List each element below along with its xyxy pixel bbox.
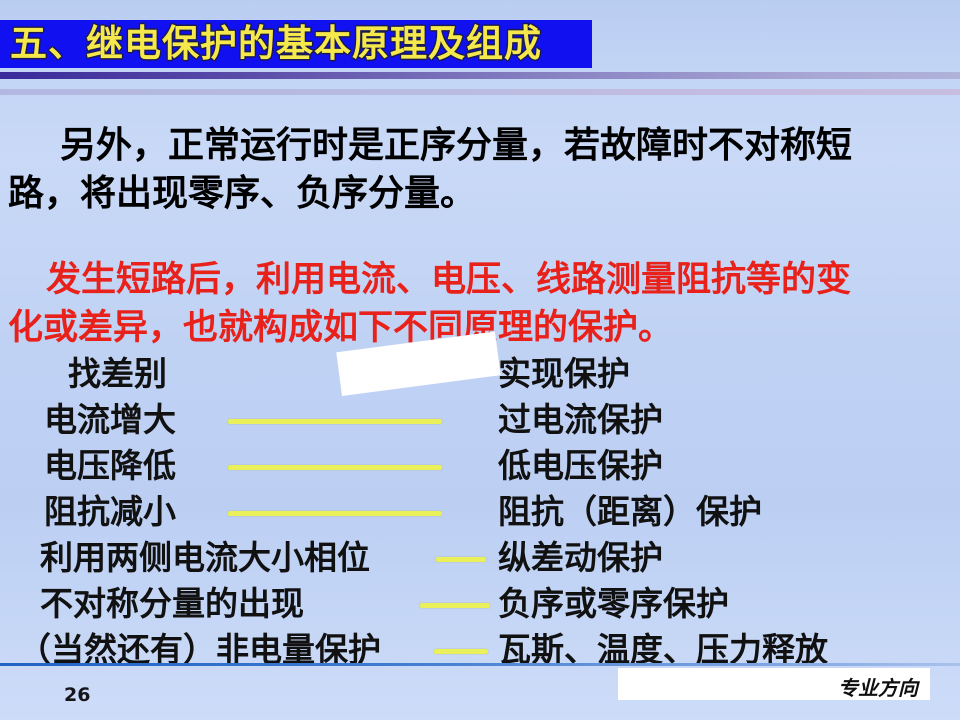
- title-banner: 五、继电保护的基本原理及组成: [0, 20, 592, 68]
- paragraph-black: 另外，正常运行时是正序分量，若故障时不对称短 路，将出现零序、负序分量。: [8, 122, 952, 218]
- slide-canvas: 五、继电保护的基本原理及组成 另外，正常运行时是正序分量，若故障时不对称短 路，…: [0, 0, 960, 720]
- mapping-right-label: 纵差动保护: [498, 536, 663, 580]
- mapping-left-label: 找差别: [68, 352, 167, 396]
- mapping-right-label: 低电压保护: [498, 444, 663, 488]
- mapping-right-label: 过电流保护: [498, 398, 663, 442]
- footer-divider: [0, 663, 960, 666]
- paragraph-black-line-2: 路，将出现零序、负序分量。: [8, 170, 952, 218]
- table-row: 利用两侧电流大小相位 纵差动保护: [0, 536, 960, 582]
- paragraph-red: 发生短路后，利用电流、电压、线路测量阻抗等的变 化或差异，也就构成如下不同原理的…: [8, 256, 851, 352]
- table-row: 阻抗减小 阻抗（距离）保护: [0, 490, 960, 536]
- page-title: 五、继电保护的基本原理及组成: [10, 21, 542, 67]
- mapping-left-label: 利用两侧电流大小相位: [40, 536, 370, 580]
- decorative-stripe-dark: [0, 72, 960, 79]
- table-row: 电压降低 低电压保护: [0, 444, 960, 490]
- paragraph-black-line-1: 另外，正常运行时是正序分量，若故障时不对称短: [8, 122, 952, 170]
- footer-brand-label: 专业方向: [838, 672, 918, 701]
- table-row: 不对称分量的出现 负序或零序保护: [0, 582, 960, 628]
- mapping-right-label: 实现保护: [498, 352, 630, 396]
- arrow-line-icon: [436, 557, 486, 562]
- arrow-line-icon: [434, 649, 488, 654]
- arrow-line-icon: [228, 465, 442, 470]
- mapping-left-label: 电流增大: [44, 398, 176, 442]
- mapping-left-label: 电压降低: [44, 444, 176, 488]
- mapping-right-label: 阻抗（距离）保护: [498, 490, 762, 534]
- arrow-line-icon: [228, 511, 442, 516]
- page-number: 26: [64, 684, 90, 706]
- table-row: 电流增大 过电流保护: [0, 398, 960, 444]
- mapping-right-label: 负序或零序保护: [498, 582, 729, 626]
- paragraph-red-line-1: 发生短路后，利用电流、电压、线路测量阻抗等的变: [8, 256, 851, 304]
- arrow-line-icon: [420, 603, 490, 608]
- arrow-line-icon: [228, 419, 442, 424]
- footer-brand-box: 专业方向: [618, 668, 930, 700]
- mapping-left-label: 不对称分量的出现: [40, 582, 304, 626]
- principle-mapping-list: 找差别 实现保护 电流增大 过电流保护 电压降低 低电压保护 阻抗减小 阻抗（距…: [0, 352, 960, 674]
- decorative-stripe-light: [0, 89, 960, 95]
- mapping-left-label: 阻抗减小: [44, 490, 176, 534]
